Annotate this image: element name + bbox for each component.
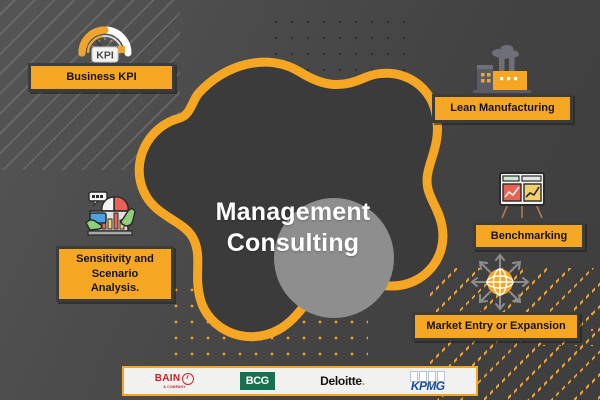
page-title: Management Consulting: [128, 197, 458, 258]
title-line-2: Consulting: [128, 228, 458, 259]
presentation-board-icon: [494, 168, 550, 222]
logo-bain-subtitle: & COMPANY: [163, 386, 185, 389]
label-business-kpi-text: Business KPI: [66, 70, 136, 85]
label-benchmarking-text: Benchmarking: [491, 229, 567, 244]
globe-expansion-icon: [469, 253, 531, 311]
label-sensitivity-and-scenario-analysis[interactable]: Sensitivity and Scenario Analysis.: [56, 246, 174, 302]
logo-bcg: BCG: [240, 372, 275, 390]
label-sensitivity-line-2: Scenario: [92, 267, 138, 282]
label-lean-manufacturing[interactable]: Lean Manufacturing: [432, 94, 573, 123]
label-benchmarking[interactable]: Benchmarking: [473, 222, 585, 250]
logo-deloitte-name: Deloitte: [320, 374, 362, 388]
logo-deloitte: Deloitte.: [320, 374, 365, 388]
label-market-entry-text: Market Entry or Expansion: [426, 319, 565, 334]
logo-bain-name: BAIN: [155, 374, 181, 384]
label-market-entry-or-expansion[interactable]: Market Entry or Expansion: [412, 312, 580, 341]
label-sensitivity-line-3: Analysis.: [91, 281, 139, 296]
label-business-kpi[interactable]: Business KPI: [28, 63, 175, 92]
logo-bain: BAIN & COMPANY: [155, 373, 195, 389]
client-logo-bar: BAIN & COMPANY BCG Deloitte. KPMG: [122, 366, 478, 396]
sensitivity-analysis-icon: [84, 189, 142, 241]
logo-kpmg-name: KPMG: [411, 380, 445, 392]
center-blob: Management Consulting: [128, 58, 458, 348]
logo-kpmg: KPMG: [410, 371, 445, 392]
label-sensitivity-line-1: Sensitivity and: [76, 252, 154, 267]
bain-circle-icon: [182, 373, 194, 385]
label-lean-manufacturing-text: Lean Manufacturing: [450, 101, 555, 116]
factory-icon: [473, 44, 531, 96]
svg-text:KPI: KPI: [96, 49, 114, 61]
infographic-canvas: Management Consulting KPI: [0, 0, 600, 400]
logo-deloitte-accent-dot: .: [362, 374, 365, 388]
logo-bcg-name: BCG: [240, 372, 275, 390]
title-line-1: Management: [128, 197, 458, 228]
kpi-gauge-icon: KPI: [74, 13, 136, 65]
